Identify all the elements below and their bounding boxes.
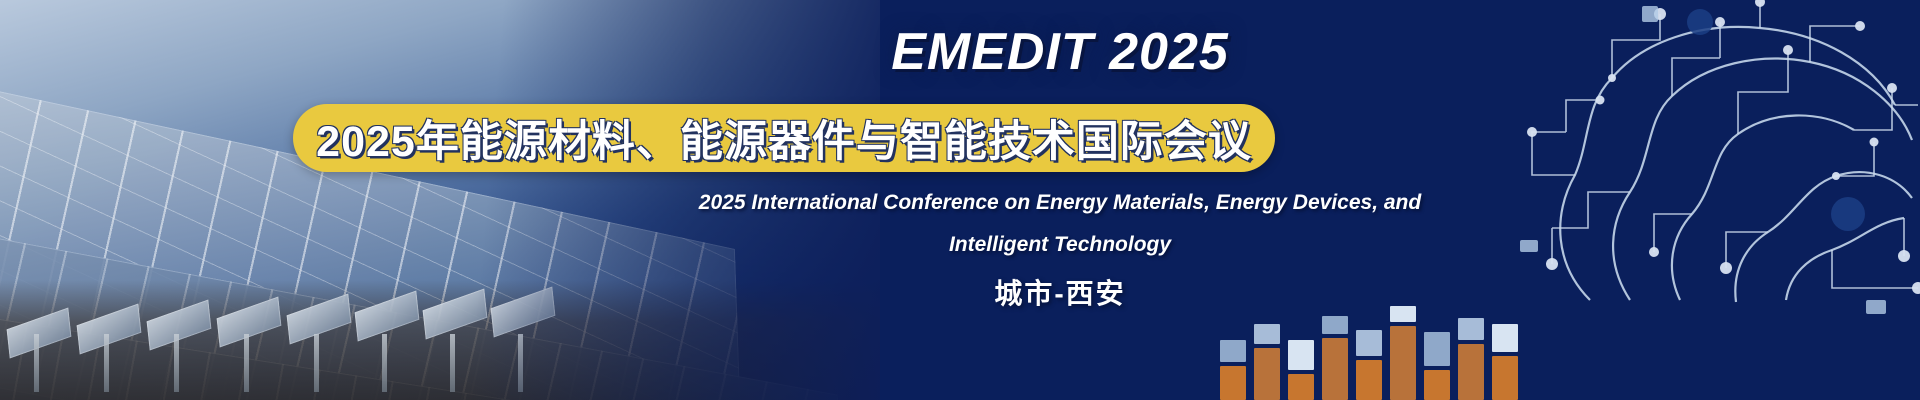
banner-text-content: EMEDIT 2025 2025年能源材料、能源器件与智能技术国际会议 2025…: [0, 0, 1920, 400]
chinese-title-bar: 2025年能源材料、能源器件与智能技术国际会议: [293, 104, 1275, 172]
chinese-title-text: 2025年能源材料、能源器件与智能技术国际会议: [316, 107, 1252, 169]
english-subtitle-line-1: 2025 International Conference on Energy …: [200, 182, 1920, 224]
conference-acronym-title: EMEDIT 2025: [0, 22, 1920, 82]
english-subtitle: 2025 International Conference on Energy …: [0, 182, 1920, 266]
conference-banner: EMEDIT 2025 2025年能源材料、能源器件与智能技术国际会议 2025…: [0, 0, 1920, 400]
english-subtitle-line-2: Intelligent Technology: [200, 224, 1920, 266]
city-label: 城市-西安: [0, 272, 1920, 312]
